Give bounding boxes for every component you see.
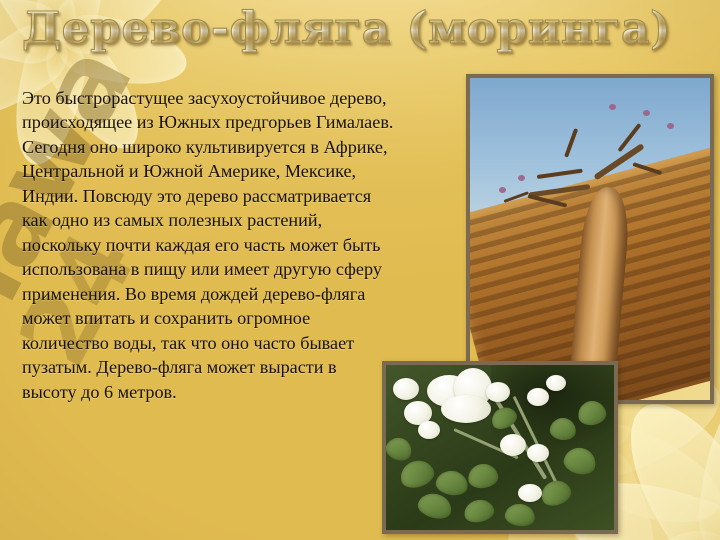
tree-bud: [643, 110, 650, 116]
bottle-tree-photo: [466, 74, 714, 404]
slide-body-text: Это быстрорастущее засухоустойчивое дере…: [22, 86, 394, 404]
white-blossom: [393, 378, 419, 400]
white-blossom: [441, 395, 491, 423]
white-blossom: [546, 375, 566, 391]
tree-bud: [667, 123, 674, 129]
moringa-flowers-photo-canvas: [386, 365, 614, 530]
tree-bud: [518, 175, 525, 181]
white-blossom: [418, 421, 440, 439]
tree-bud: [609, 104, 616, 110]
white-blossom: [486, 382, 510, 402]
moringa-flowers-photo: [382, 361, 618, 534]
slide-title: Дерево-фляга (моринга): [22, 6, 712, 53]
bottle-tree-photo-canvas: [470, 78, 710, 400]
presentation-slide: Hawa 24 Дерево-фляга (моринга) Это быстр…: [0, 0, 720, 540]
white-blossom: [518, 484, 542, 502]
